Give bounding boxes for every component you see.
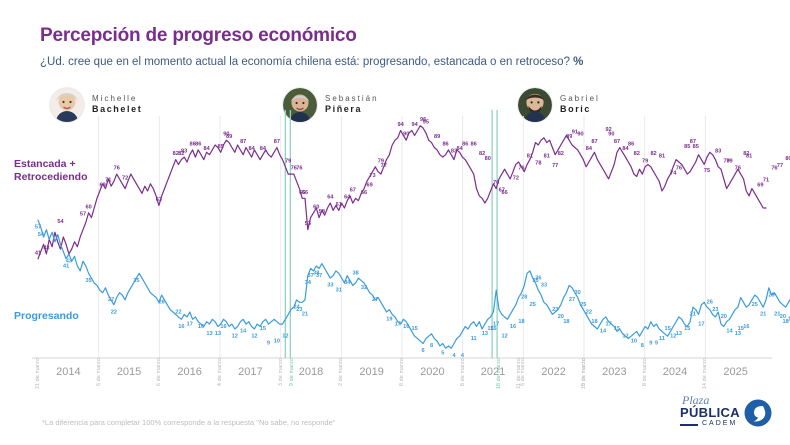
svg-text:72: 72	[122, 175, 128, 181]
svg-text:41: 41	[35, 250, 41, 256]
svg-text:76: 76	[735, 166, 741, 172]
svg-text:76: 76	[518, 166, 524, 172]
svg-text:89: 89	[226, 134, 232, 140]
svg-text:34: 34	[344, 280, 351, 286]
svg-text:12: 12	[501, 333, 507, 339]
svg-text:84: 84	[260, 146, 267, 152]
svg-text:16: 16	[510, 324, 516, 330]
svg-text:12: 12	[232, 333, 238, 339]
svg-text:85: 85	[693, 144, 699, 150]
svg-text:81: 81	[544, 153, 550, 159]
svg-text:33: 33	[541, 283, 547, 289]
svg-text:23: 23	[712, 307, 718, 313]
svg-text:17: 17	[395, 321, 401, 327]
svg-text:25: 25	[580, 302, 586, 308]
svg-text:21: 21	[302, 312, 308, 318]
svg-text:77: 77	[777, 163, 783, 169]
footnote: *La diferencia para completar 100% corre…	[42, 418, 335, 427]
svg-text:13: 13	[206, 331, 212, 337]
svg-text:34: 34	[305, 280, 312, 286]
svg-text:90: 90	[403, 132, 409, 138]
svg-text:17: 17	[187, 321, 193, 327]
x-axis-year-label: 2019	[359, 366, 383, 378]
svg-text:26: 26	[707, 300, 713, 306]
svg-text:9: 9	[649, 341, 652, 347]
svg-text:83: 83	[715, 149, 721, 155]
svg-text:22: 22	[175, 309, 181, 315]
x-axis-date-label: 4 de marzo	[217, 358, 223, 386]
svg-text:14: 14	[600, 329, 607, 335]
svg-text:19: 19	[386, 317, 392, 323]
svg-text:16: 16	[403, 324, 409, 330]
svg-text:80: 80	[785, 156, 790, 162]
logo-divider	[680, 424, 698, 426]
svg-text:69: 69	[367, 183, 373, 189]
svg-text:82: 82	[634, 151, 640, 157]
svg-text:76: 76	[296, 166, 302, 172]
svg-text:79: 79	[642, 158, 648, 164]
svg-text:84: 84	[586, 146, 593, 152]
svg-text:86: 86	[195, 141, 201, 147]
svg-text:61: 61	[336, 202, 342, 208]
svg-text:87: 87	[274, 139, 280, 145]
svg-text:15: 15	[684, 326, 690, 332]
svg-text:86: 86	[462, 141, 468, 147]
svg-text:79: 79	[726, 158, 732, 164]
svg-text:22: 22	[111, 309, 117, 315]
svg-text:57: 57	[80, 212, 86, 218]
x-axis-date-label: 8 de marzo	[399, 358, 405, 386]
svg-text:9: 9	[655, 341, 658, 347]
svg-text:21: 21	[690, 312, 696, 318]
svg-text:33: 33	[327, 283, 333, 289]
svg-text:22: 22	[586, 309, 592, 315]
svg-text:54: 54	[38, 232, 45, 238]
svg-text:25: 25	[530, 302, 536, 308]
svg-text:58: 58	[319, 209, 325, 215]
subtitle-percent: %	[573, 56, 583, 68]
svg-text:26: 26	[159, 300, 165, 306]
svg-text:17: 17	[493, 321, 499, 327]
x-axis-date-label: 11 de marzo	[516, 358, 522, 389]
svg-text:38: 38	[353, 271, 359, 277]
x-axis-date-label: 21 de marzo	[35, 358, 41, 389]
svg-text:63: 63	[156, 197, 162, 203]
x-axis-year-label: 2024	[663, 366, 687, 378]
svg-text:17: 17	[698, 321, 704, 327]
svg-text:84: 84	[204, 146, 211, 152]
plaza-publica-cadem-logo: Plaza PÚBLICA CADEM	[680, 391, 772, 433]
svg-text:87: 87	[240, 139, 246, 145]
svg-text:71: 71	[105, 178, 111, 184]
svg-text:20: 20	[721, 314, 727, 320]
svg-text:10: 10	[631, 338, 637, 344]
svg-text:84: 84	[249, 146, 256, 152]
svg-text:66: 66	[302, 190, 308, 196]
svg-text:79: 79	[285, 158, 291, 164]
svg-text:66: 66	[501, 190, 507, 196]
svg-text:15: 15	[665, 326, 671, 332]
svg-text:60: 60	[85, 204, 91, 210]
svg-text:94: 94	[412, 122, 419, 128]
svg-text:10: 10	[274, 338, 280, 344]
svg-text:81: 81	[659, 153, 665, 159]
x-axis-date-label: 6 de marzo	[96, 358, 102, 386]
svg-text:27: 27	[569, 297, 575, 303]
svg-text:81: 81	[527, 153, 533, 159]
svg-text:64: 64	[344, 195, 351, 201]
svg-text:18: 18	[518, 319, 524, 325]
svg-text:82: 82	[558, 151, 564, 157]
svg-text:25: 25	[752, 302, 758, 308]
svg-text:18: 18	[563, 319, 569, 325]
svg-text:86: 86	[471, 141, 477, 147]
svg-text:15: 15	[412, 326, 418, 332]
x-axis: 2014201520162017201820192020202120222023…	[0, 352, 790, 397]
svg-text:35: 35	[133, 278, 139, 284]
svg-text:37: 37	[316, 273, 322, 279]
svg-text:15: 15	[260, 326, 266, 332]
svg-text:12: 12	[282, 333, 288, 339]
svg-text:31: 31	[336, 287, 342, 293]
svg-text:21: 21	[760, 312, 766, 318]
svg-text:14: 14	[726, 329, 733, 335]
x-axis-year-label: 2014	[56, 366, 80, 378]
x-axis-year-label: 2016	[177, 366, 201, 378]
svg-text:8: 8	[641, 343, 644, 349]
svg-text:27: 27	[372, 297, 378, 303]
svg-text:16: 16	[178, 324, 184, 330]
svg-text:78: 78	[535, 161, 541, 167]
svg-text:16: 16	[743, 324, 749, 330]
svg-text:90: 90	[577, 132, 583, 138]
svg-text:82: 82	[650, 151, 656, 157]
x-axis-year-label: 2017	[238, 366, 262, 378]
svg-text:77: 77	[381, 163, 387, 169]
svg-text:12: 12	[251, 333, 257, 339]
svg-text:76: 76	[114, 166, 120, 172]
logo-speech-bubble-icon	[744, 399, 772, 427]
svg-text:9: 9	[267, 341, 270, 347]
svg-text:43: 43	[43, 245, 49, 251]
svg-text:80: 80	[485, 156, 491, 162]
logo-cadem-text: CADEM	[702, 420, 737, 427]
x-axis-date-label: 9 de marzo	[289, 358, 295, 386]
svg-text:87: 87	[591, 139, 597, 145]
svg-text:16: 16	[198, 324, 204, 330]
svg-text:85: 85	[218, 144, 224, 150]
svg-text:11: 11	[659, 336, 665, 342]
svg-text:35: 35	[85, 278, 91, 284]
x-axis-year-label: 2023	[602, 366, 626, 378]
svg-text:12: 12	[622, 333, 628, 339]
svg-text:11: 11	[471, 336, 477, 342]
svg-text:27: 27	[108, 297, 114, 303]
x-axis-date-label: 18 de marzo	[496, 358, 502, 389]
x-axis-year-label: 2018	[299, 366, 323, 378]
svg-text:67: 67	[350, 187, 356, 193]
svg-text:57: 57	[35, 225, 41, 231]
x-axis-date-label: 8 de marzo	[460, 358, 466, 386]
svg-text:90: 90	[608, 132, 614, 138]
svg-text:66: 66	[361, 190, 367, 196]
svg-text:76: 76	[676, 166, 682, 172]
x-axis-year-label: 2015	[117, 366, 141, 378]
svg-text:95: 95	[423, 120, 429, 126]
svg-text:14: 14	[240, 329, 247, 335]
page-title: Percepción de progreso económico	[40, 25, 357, 47]
svg-text:29: 29	[769, 292, 775, 298]
x-axis-date-label: 10 de marzo	[581, 358, 587, 389]
svg-text:23: 23	[552, 307, 558, 313]
x-axis-date-label: 6 de marzo	[156, 358, 162, 386]
x-axis-year-label: 2025	[723, 366, 747, 378]
x-axis-date-label: 14 de marzo	[702, 358, 708, 389]
subtitle-text: ¿Ud. cree que en el momento actual la ec…	[40, 56, 573, 68]
svg-text:8: 8	[430, 343, 433, 349]
x-axis-date-label: 2 de marzo	[338, 358, 344, 386]
president-firstname: Gabriel	[560, 94, 600, 104]
svg-text:54: 54	[57, 219, 64, 225]
president-firstname: Michelle	[92, 94, 142, 104]
x-axis-year-label: 2022	[541, 366, 565, 378]
svg-text:15: 15	[614, 326, 620, 332]
svg-text:16: 16	[220, 324, 226, 330]
svg-text:70: 70	[493, 180, 499, 186]
svg-text:72: 72	[513, 175, 519, 181]
svg-text:87: 87	[614, 139, 620, 145]
svg-text:89: 89	[434, 134, 440, 140]
president-firstname: Sebastián	[325, 94, 379, 104]
svg-text:81: 81	[746, 153, 752, 159]
svg-text:73: 73	[369, 173, 375, 179]
svg-text:43: 43	[66, 258, 72, 264]
svg-text:86: 86	[442, 141, 448, 147]
svg-text:18: 18	[591, 319, 597, 325]
svg-text:75: 75	[704, 168, 710, 174]
svg-text:94: 94	[397, 122, 404, 128]
svg-text:17: 17	[605, 321, 611, 327]
svg-text:13: 13	[215, 331, 221, 337]
svg-text:32: 32	[361, 285, 367, 291]
svg-text:36: 36	[535, 275, 541, 281]
line-chart: 4143545760697176726382828386868485908987…	[0, 110, 790, 365]
svg-text:86: 86	[628, 141, 634, 147]
logo-publica-text: PÚBLICA	[680, 405, 740, 420]
svg-text:64: 64	[327, 195, 334, 201]
x-axis-date-label: 3 de marzo	[278, 358, 284, 386]
svg-text:77: 77	[552, 163, 558, 169]
x-axis-date-label: 8 de marzo	[642, 358, 648, 386]
svg-text:13: 13	[676, 331, 682, 337]
svg-text:83: 83	[181, 149, 187, 155]
svg-text:30: 30	[575, 290, 581, 296]
svg-text:53: 53	[305, 221, 311, 227]
svg-text:28: 28	[521, 295, 527, 301]
x-axis-year-label: 2020	[420, 366, 444, 378]
page-subtitle: ¿Ud. cree que en el momento actual la ec…	[40, 56, 583, 68]
svg-text:71: 71	[763, 178, 769, 184]
